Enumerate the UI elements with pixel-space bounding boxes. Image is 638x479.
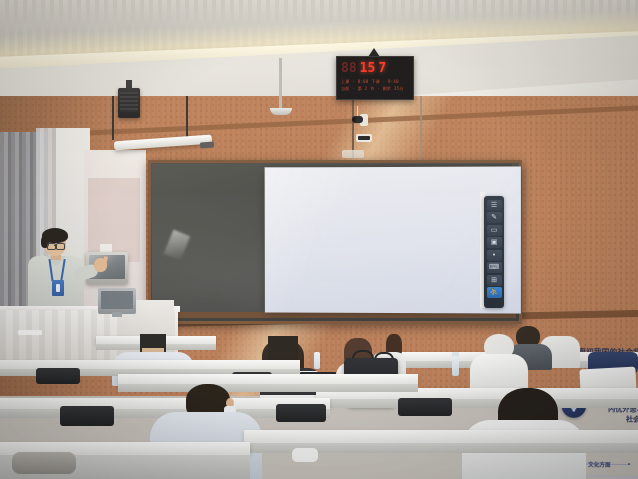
pendant-rod-left (112, 96, 114, 140)
hanging-wire (420, 96, 422, 164)
slide-center-emphasis: 内忧外患、百姓生活困苦 社会危机突出 (596, 405, 638, 426)
laser-pointer-icon-glyph: • (493, 252, 495, 259)
clock-digits: 88 15 7 (341, 61, 409, 76)
pen-icon[interactable]: ✎ (487, 212, 502, 223)
water-bottle (452, 356, 459, 376)
screen-icon[interactable]: ▣ (487, 237, 502, 248)
pendant-light-end-cap (200, 142, 214, 149)
audience-person-4 (470, 354, 528, 392)
grid-icon-glyph: ⊞ (491, 277, 497, 284)
slide-center-line-2: 社会危机突出 (596, 415, 638, 426)
user-icon[interactable]: ⛹ (487, 287, 502, 298)
desk-row-2-right-front (316, 399, 638, 408)
projector-mount-base (342, 150, 364, 158)
camera-lens (352, 117, 356, 122)
chair-1 (36, 368, 80, 384)
desk-row-2-front (118, 384, 418, 392)
clock-subline-2: 当前 · 第 2 节 · 剩余 35分 (341, 86, 409, 91)
led-wall-clock: 88 15 7 上课 · 8:00 下课 · 9:40 当前 · 第 2 节 ·… (336, 56, 414, 100)
water-bottle-2 (314, 352, 320, 369)
grid-icon[interactable]: ⊞ (487, 275, 502, 286)
desk-row-4 (244, 430, 638, 443)
chair-5 (398, 398, 452, 416)
lectern-monitor-screen (101, 291, 133, 309)
clock-digit-group-1: 88 (341, 62, 357, 75)
presenter-glasses-bridge (54, 245, 56, 246)
presenter-glasses-right (56, 243, 65, 250)
connector-node-3 (628, 463, 630, 465)
desk-row-2 (118, 374, 418, 384)
foreground-object (12, 452, 76, 474)
laser-pointer-icon[interactable]: • (487, 250, 502, 261)
wall-socket-face (358, 136, 370, 140)
security-camera-icon (352, 114, 368, 124)
slide-label-culture: 文化方面 (588, 463, 611, 470)
chair-4 (276, 404, 326, 422)
projector-mount-rod (352, 96, 354, 158)
menu-icon-glyph: ☰ (491, 202, 497, 209)
lectern-label (18, 330, 42, 335)
lectern-monitor-stand (112, 312, 122, 317)
clock-subline-1: 上课 · 8:00 下课 · 9:40 (341, 79, 409, 84)
lecture-hall-screenshot: 88 15 7 上课 · 8:00 下课 · 9:40 当前 · 第 2 节 ·… (0, 0, 638, 479)
clock-digit-group-3: 7 (378, 62, 386, 75)
keyboard-icon-glyph: ⌨ (489, 264, 499, 271)
downlight-fixture (270, 108, 292, 115)
tissue (292, 448, 318, 462)
side-wall-panel (88, 178, 140, 262)
eraser-icon[interactable]: ▭ (487, 225, 502, 236)
presenter-badge-mark (56, 284, 60, 292)
speaker-grille (120, 92, 138, 112)
menu-icon[interactable]: ☰ (487, 200, 502, 211)
user-icon-glyph: ⛹ (490, 289, 499, 296)
screen-icon-glyph: ▣ (491, 239, 498, 246)
eraser-icon-glyph: ▭ (491, 227, 498, 234)
pen-icon-glyph: ✎ (491, 214, 497, 221)
projector-side-toolbar[interactable]: ☰✎▭▣•⌨⊞⛹ (484, 196, 504, 308)
keyboard-icon[interactable]: ⌨ (487, 262, 502, 273)
clock-digit-group-2: 15 (360, 62, 376, 75)
downlight-rod (279, 58, 282, 110)
chair-3 (60, 406, 114, 426)
